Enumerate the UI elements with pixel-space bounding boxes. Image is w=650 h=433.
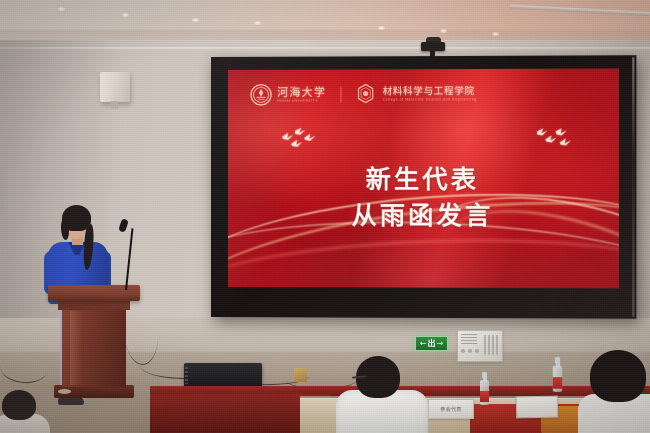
ceiling-projector — [421, 42, 445, 51]
hohai-university-crest-icon — [250, 84, 272, 106]
attendee-dark-hair — [584, 350, 650, 433]
emergency-exit-sign: ← 出 → — [415, 336, 448, 351]
materials-college-crest-icon — [355, 83, 377, 105]
attendee-head — [2, 390, 36, 420]
bottle-label — [553, 377, 562, 389]
slide-canvas: 河海大学 HOHAI UNIVERSITY 材料科学与工程学院 — [228, 68, 619, 288]
speaker-hair-side — [61, 218, 69, 240]
attendee-white-shirt-glasses — [334, 356, 430, 433]
logo-divider — [340, 87, 341, 103]
water-bottle-back — [553, 357, 562, 392]
slide-title-line-1: 新生代表 — [228, 162, 619, 198]
exit-left-arrow-icon: ← — [420, 340, 427, 348]
bottle-cap — [482, 372, 487, 378]
ceiling-downlight — [440, 29, 447, 33]
hohai-university-logo: 河海大学 HOHAI UNIVERSITY — [250, 84, 326, 106]
ceiling-downlight — [254, 21, 261, 25]
materials-college-logo: 材料科学与工程学院 College of Materials Science a… — [355, 83, 476, 106]
bottle-cap — [555, 357, 560, 363]
bezel-highlight — [632, 57, 634, 316]
ceiling-downlight — [492, 32, 499, 36]
exit-right-arrow-icon: → — [437, 340, 444, 348]
table-namecard: 参会代表 — [428, 399, 474, 419]
wall-mounted-speaker — [100, 72, 130, 102]
wooden-block — [294, 368, 307, 382]
ceiling-downlight — [192, 18, 199, 22]
namecard-text: 参会代表 — [440, 406, 462, 413]
table-namecard — [516, 396, 558, 419]
panel-button[interactable] — [475, 349, 479, 353]
panel-sliders[interactable] — [484, 335, 498, 355]
hohai-university-name-en: HOHAI UNIVERSITY — [277, 99, 326, 103]
materials-college-name-cn: 材料科学与工程学院 — [383, 87, 477, 97]
wall-control-panel[interactable] — [457, 330, 503, 362]
ceiling-downlight — [378, 26, 385, 30]
bottle-label — [480, 391, 489, 402]
ceiling-downlight — [122, 13, 129, 17]
lectern-neck — [58, 300, 130, 310]
panel-slider[interactable] — [488, 335, 490, 355]
attendee-edge-left — [0, 388, 40, 433]
stage-monitor-speaker — [184, 363, 262, 388]
hohai-university-name-cn: 河海大学 — [277, 86, 326, 97]
panel-slider[interactable] — [496, 335, 498, 355]
materials-college-name-block: 材料科学与工程学院 College of Materials Science a… — [383, 87, 477, 102]
hohai-university-name-block: 河海大学 HOHAI UNIVERSITY — [277, 86, 326, 103]
led-display-screen[interactable]: 河海大学 HOHAI UNIVERSITY 材料科学与工程学院 — [211, 55, 636, 319]
panel-buttons[interactable] — [461, 349, 479, 353]
slide-title: 新生代表 从雨函发言 — [228, 162, 619, 234]
materials-college-name-en: College of Materials Science and Enginee… — [383, 98, 477, 102]
panel-button[interactable] — [461, 349, 465, 353]
attendee-head — [590, 350, 646, 402]
lectern-highlight — [70, 311, 82, 385]
slide-logo-bar: 河海大学 HOHAI UNIVERSITY 材料科学与工程学院 — [250, 83, 477, 106]
floor-plate — [58, 389, 71, 394]
slide-title-line-2: 从雨函发言 — [228, 198, 619, 234]
exit-glyph: 出 — [428, 340, 436, 348]
panel-button[interactable] — [468, 349, 472, 353]
panel-label-lines — [461, 334, 477, 347]
auditorium-photo-scene: 河海大学 HOHAI UNIVERSITY 材料科学与工程学院 — [0, 0, 650, 433]
ceiling-downlight — [58, 7, 65, 11]
panel-slider[interactable] — [484, 335, 486, 355]
panel-slider[interactable] — [492, 335, 494, 355]
water-bottle-front — [480, 372, 489, 405]
